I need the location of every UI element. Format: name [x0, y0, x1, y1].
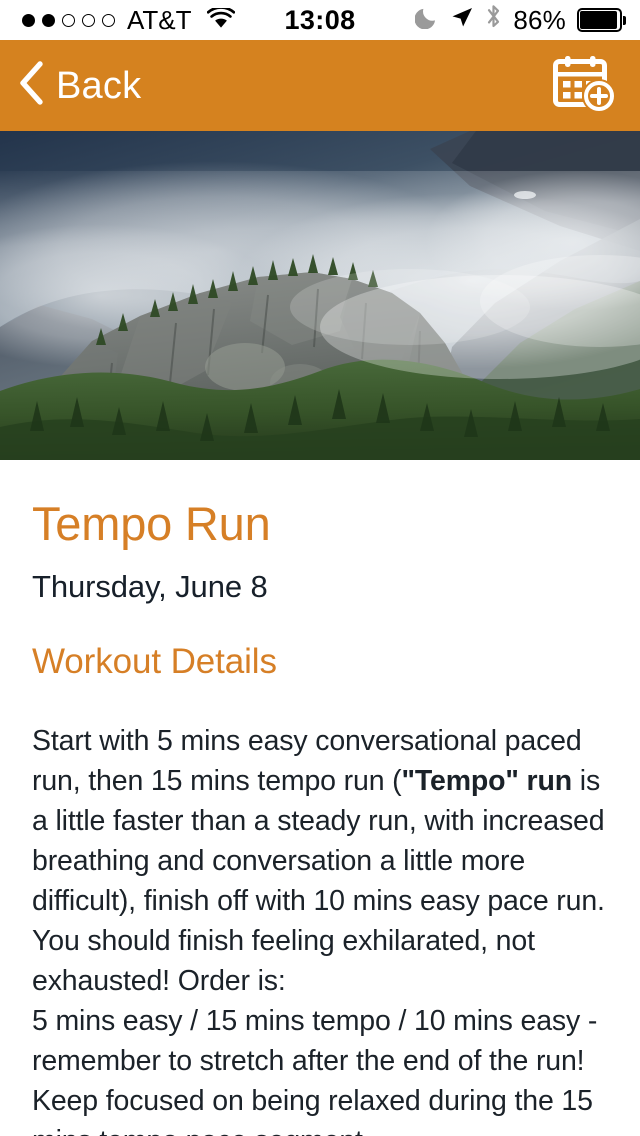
hero-image	[0, 131, 640, 460]
status-bar: AT&T 13:08	[0, 0, 640, 40]
workout-content: Tempo Run Thursday, June 8 Workout Detai…	[0, 460, 640, 1136]
signal-strength-dots	[22, 14, 115, 27]
back-button-label: Back	[56, 67, 141, 105]
status-bar-left: AT&T	[0, 5, 235, 36]
status-bar-right: 86%	[415, 4, 640, 36]
signal-dot-4	[82, 14, 95, 27]
battery-icon	[577, 8, 626, 32]
signal-dot-1	[22, 14, 35, 27]
wifi-icon	[207, 5, 235, 36]
back-button[interactable]: Back	[18, 61, 141, 110]
signal-dot-5	[102, 14, 115, 27]
section-heading-workout-details: Workout Details	[32, 602, 608, 679]
carrier-label: AT&T	[127, 5, 192, 36]
navigation-bar: Back	[0, 40, 640, 131]
location-arrow-icon	[450, 5, 474, 36]
details-text-emphasis: "Tempo" run	[402, 765, 573, 797]
mountain-landscape-illustration	[0, 131, 640, 460]
workout-detail-screen: AT&T 13:08	[0, 0, 640, 1136]
signal-dot-2	[42, 14, 55, 27]
calendar-add-icon[interactable]	[552, 54, 618, 117]
battery-percent-label: 86%	[513, 5, 566, 36]
details-text-part2: is a little faster than a steady run, wi…	[32, 765, 612, 1136]
page-title: Tempo Run	[32, 460, 608, 547]
workout-details-text: Start with 5 mins easy conversational pa…	[32, 679, 608, 1136]
navigation-bar-right	[552, 54, 618, 117]
moon-icon	[415, 5, 439, 36]
clock-label: 13:08	[284, 5, 355, 36]
workout-date: Thursday, June 8	[32, 547, 608, 602]
signal-dot-3	[62, 14, 75, 27]
chevron-left-icon	[18, 61, 44, 110]
bluetooth-icon	[485, 4, 502, 36]
